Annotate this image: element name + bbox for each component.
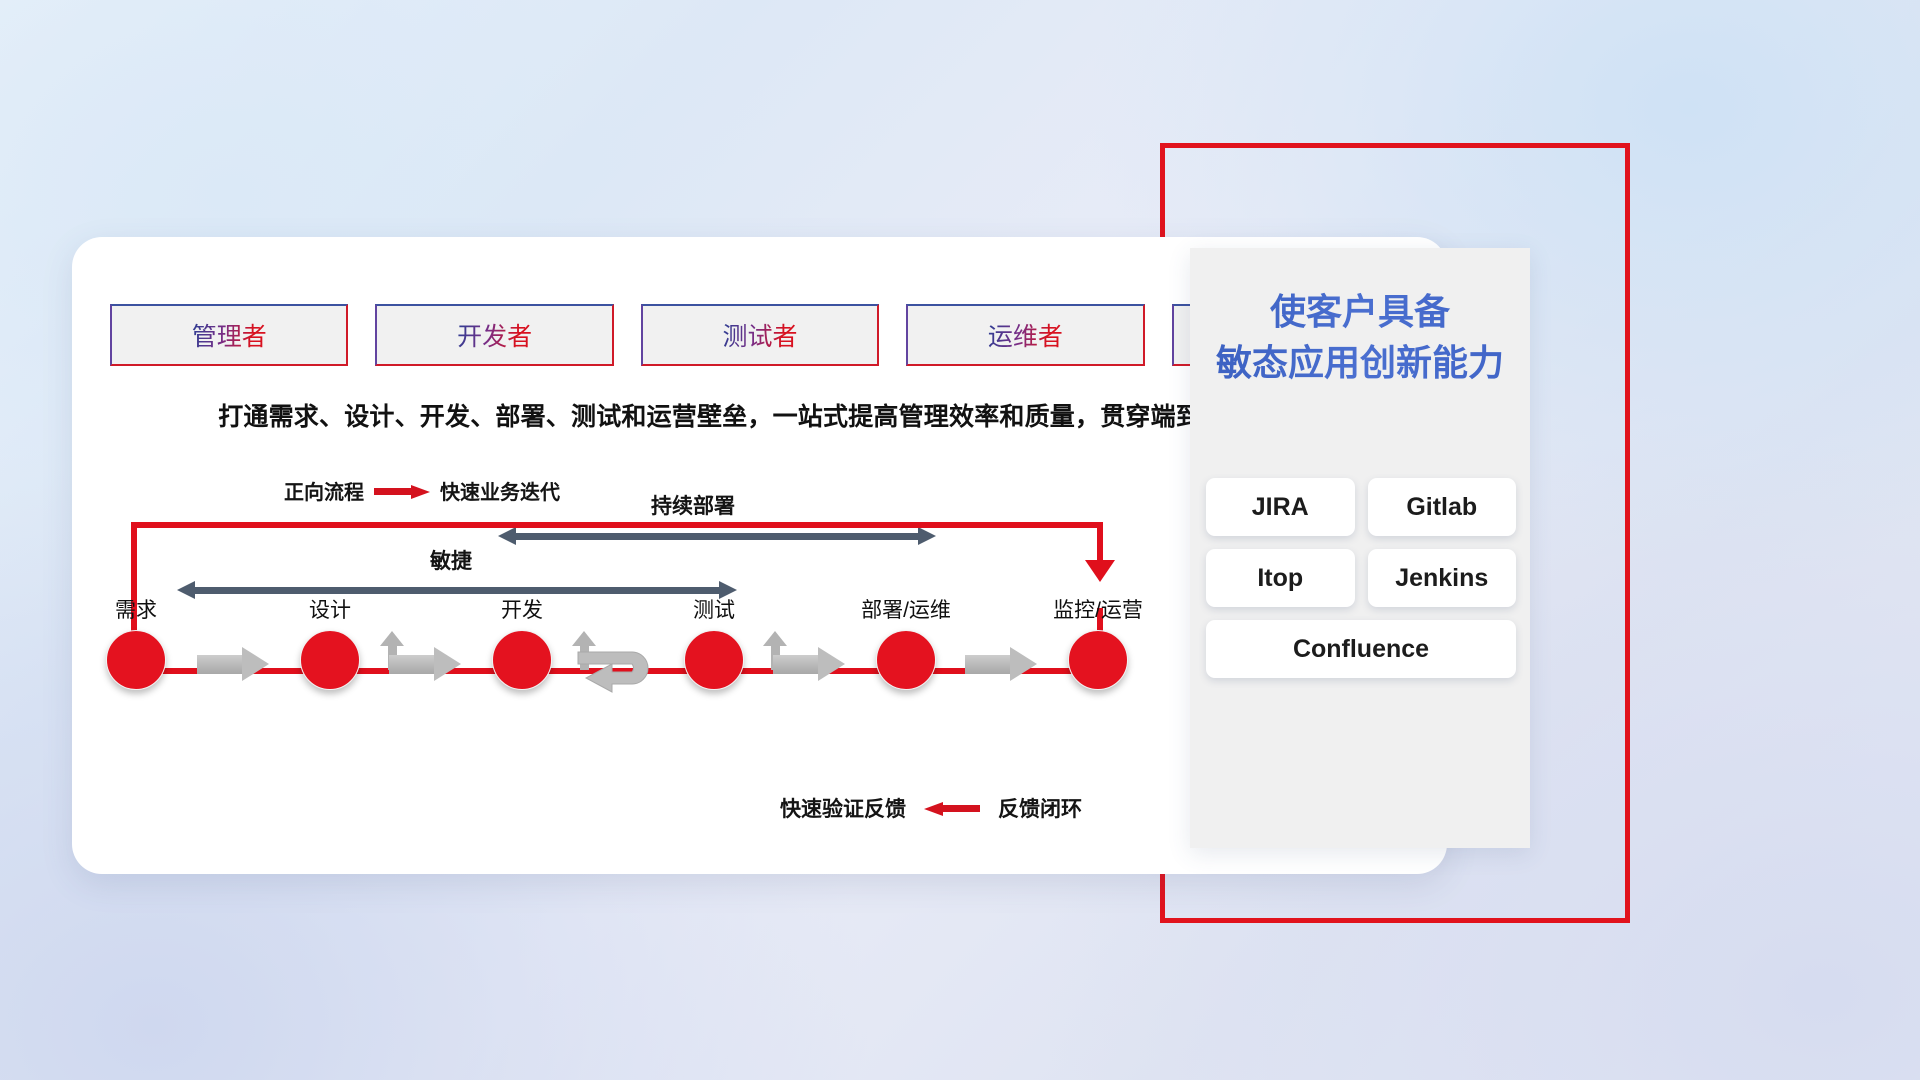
chevron-tail [389,655,435,674]
pipeline-node-label: 设计 [265,594,395,624]
pipeline-node-label: 监控/运营 [1033,594,1163,624]
feedback-loop-top-edge [131,522,1103,528]
arrow-head-right-icon [918,527,936,545]
connector-bottom [1160,918,1630,923]
chevron-tail [965,655,1011,674]
role-box-tester[interactable]: 测试者 [641,304,879,366]
side-panel-title-line1: 使客户具备 [1190,286,1530,337]
legend-forward-right-label: 快速业务迭代 [440,476,560,505]
role-box-ops[interactable]: 运维者 [906,304,1144,366]
legend-feedback-right-label: 反馈闭环 [998,793,1082,823]
caption-continuous-deploy: 持续部署 [651,490,735,520]
role-label: 测试者 [723,317,798,353]
feedback-loop-arrow-down-icon [1085,560,1115,582]
tool-tag-confluence[interactable]: Confluence [1206,620,1516,678]
role-box-developer[interactable]: 开发者 [375,304,613,366]
side-panel-title-line2: 敏态应用创新能力 [1190,337,1530,388]
connector-top [1160,143,1630,148]
tool-tag-jenkins[interactable]: Jenkins [1368,549,1517,607]
pipeline-node-dot [876,630,936,690]
role-label: 运维者 [988,317,1063,353]
caption-agile: 敏捷 [430,545,472,575]
pipeline-node-dot [106,630,166,690]
chevron-arrow-2-icon [389,647,461,681]
role-label: 管理者 [192,317,267,353]
pipeline-node-dot [684,630,744,690]
pipeline-node-test[interactable]: 测试 [649,594,779,690]
connector-right [1625,143,1630,923]
pipeline-node-develop[interactable]: 开发 [457,594,587,690]
chevron-tail [197,655,243,674]
pipeline-node-dot [1068,630,1128,690]
double-arrow-continuous-deploy-icon [498,527,936,545]
chevron-arrow-4-icon [965,647,1037,681]
role-label: 开发者 [457,317,532,353]
slide-canvas: 管理者 开发者 测试者 运维者 运营者 打通需求、设计、开发、部署、测试和运营壁… [0,0,1920,1080]
legend-feedback-loop: 快速验证反馈 反馈闭环 [780,793,1082,823]
feedback-loop-right-edge [1097,522,1103,564]
tool-tag-gitlab[interactable]: Gitlab [1368,478,1517,536]
pipeline-node-dot [300,630,360,690]
tool-tag-itop[interactable]: Itop [1206,549,1355,607]
pipeline-node-label: 需求 [71,594,201,624]
legend-forward-left-label: 正向流程 [284,476,364,505]
arrow-shaft [514,533,920,540]
legend-feedback-left-label: 快速验证反馈 [780,793,906,823]
chevron-tail [773,655,819,674]
pipeline-node-requirement[interactable]: 需求 [71,594,201,690]
arrow-left-red-icon [924,802,980,814]
arrow-right-red-icon [374,485,430,497]
tool-tag-list: JIRA Gitlab Itop Jenkins Confluence [1206,478,1516,678]
chevron-arrow-3-icon [773,647,845,681]
chevron-arrow-1-icon [197,647,269,681]
legend-forward-flow: 正向流程 快速业务迭代 [284,476,560,505]
pipeline-node-label: 部署/运维 [841,594,971,624]
pipeline-node-dot [492,630,552,690]
pipeline-node-deploy-ops[interactable]: 部署/运维 [841,594,971,690]
pipeline-node-label: 测试 [649,594,779,624]
pipeline-node-design[interactable]: 设计 [265,594,395,690]
tool-tag-jira[interactable]: JIRA [1206,478,1355,536]
arrow-shaft [193,587,721,594]
role-box-manager[interactable]: 管理者 [110,304,348,366]
pipeline-node-monitor-operate[interactable]: 监控/运营 [1033,594,1163,690]
side-panel-title: 使客户具备 敏态应用创新能力 [1190,286,1530,388]
pipeline-node-label: 开发 [457,594,587,624]
